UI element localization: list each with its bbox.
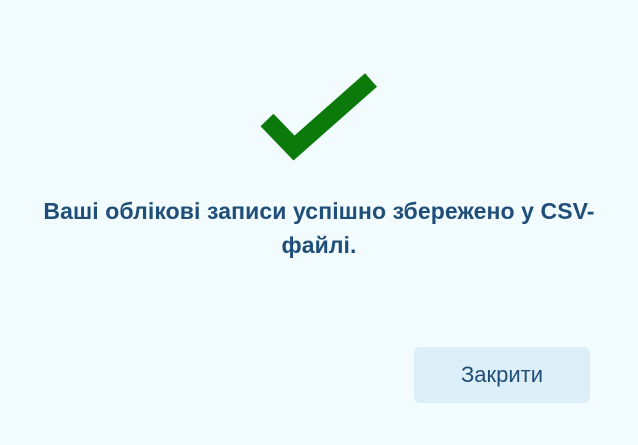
status-icon-container bbox=[0, 60, 638, 170]
csv-export-success-dialog: Ваші облікові записи успішно збережено у… bbox=[0, 0, 638, 445]
checkmark-stroke bbox=[267, 80, 371, 148]
success-message-line-1: Ваші облікові записи успішно збережено у… bbox=[43, 198, 594, 224]
dialog-footer: Закрити bbox=[0, 347, 638, 403]
green-checkmark-icon bbox=[259, 70, 379, 160]
success-message: Ваші облікові записи успішно збережено у… bbox=[0, 194, 638, 262]
close-button[interactable]: Закрити bbox=[414, 347, 590, 403]
success-message-line-2: файлі. bbox=[281, 232, 356, 258]
